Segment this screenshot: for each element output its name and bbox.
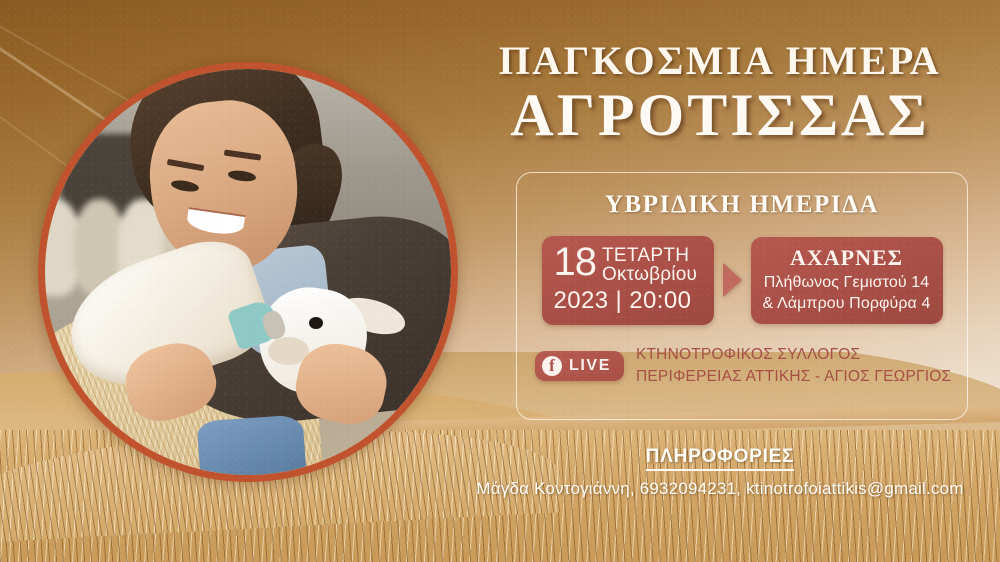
event-details-card: ΥΒΡΙΔΙΚΗ ΗΜΕΡΙΔΑ 18 ΤΕΤΑΡΤΗ Οκτωβρίου 20… <box>516 172 968 420</box>
day-number: 18 <box>554 244 597 281</box>
organizer-line-1: ΚΤΗΝΟΤΡΟΦΙΚΟΣ ΣΥΛΛΟΓΟΣ <box>636 344 951 366</box>
year-and-time: 2023 | 20:00 <box>554 287 704 315</box>
facebook-f-icon: f <box>542 356 562 376</box>
location-address-line-2: & Λάμπρου Πορφύρα 4 <box>759 293 935 314</box>
circular-photo-frame <box>38 62 458 482</box>
contact-details: Μάγδα Κοντογιάννη, 6932094231, ktinotrof… <box>440 479 1000 499</box>
information-section: ΠΛΗΡΟΦΟΡΙΕΣ Μάγδα Κοντογιάννη, 693209423… <box>440 446 1000 499</box>
lamb-eye <box>309 317 323 329</box>
weekday-label: ΤΕΤΑΡΤΗ <box>602 246 697 265</box>
month-label: Οκτωβρίου <box>602 265 697 286</box>
poster-headline: ΠΑΓΚΟΣΜΙΑ ΗΜΕΡΑ ΑΓΡΟΤΙΣΣΑΣ <box>460 40 980 147</box>
information-title: ΠΛΗΡΟΦΟΡΙΕΣ <box>646 446 795 471</box>
woman-jeans <box>197 415 307 475</box>
event-type-title: ΥΒΡΙΔΙΚΗ ΗΜΕΡΙΔΑ <box>517 191 967 219</box>
live-label: LIVE <box>569 357 611 375</box>
headline-line-2: ΑΓΡΟΤΙΣΣΑΣ <box>460 84 980 147</box>
location-city: ΑΧΑΡΝΕΣ <box>759 245 935 271</box>
facebook-live-badge[interactable]: f LIVE <box>535 351 624 381</box>
location-badge: ΑΧΑΡΝΕΣ Πλήθωνος Γεμιστού 14 & Λάμπρου Π… <box>751 237 943 324</box>
poster-root: ΠΑΓΚΟΣΜΙΑ ΗΜΕΡΑ ΑΓΡΟΤΙΣΣΑΣ ΥΒΡΙΔΙΚΗ ΗΜΕΡ… <box>0 0 1000 562</box>
date-location-row: 18 ΤΕΤΑΡΤΗ Οκτωβρίου 2023 | 20:00 ΑΧΑΡΝΕ… <box>517 236 967 325</box>
farmer-feeding-lamb-photo <box>45 69 451 475</box>
organizer-name: ΚΤΗΝΟΤΡΟΦΙΚΟΣ ΣΥΛΛΟΓΟΣ ΠΕΡΙΦΕΡΕΙΑΣ ΑΤΤΙΚ… <box>636 344 951 388</box>
arrow-right-icon <box>723 263 742 297</box>
organizer-line-2: ΠΕΡΙΦΕΡΕΙΑΣ ΑΤΤΙΚΗΣ - ΑΓΙΟΣ ΓΕΩΡΓΙΟΣ <box>636 366 951 388</box>
date-badge: 18 ΤΕΤΑΡΤΗ Οκτωβρίου 2023 | 20:00 <box>542 236 714 325</box>
facebook-live-row: f LIVE ΚΤΗΝΟΤΡΟΦΙΚΟΣ ΣΥΛΛΟΓΟΣ ΠΕΡΙΦΕΡΕΙΑ… <box>535 344 967 388</box>
date-top-row: 18 ΤΕΤΑΡΤΗ Οκτωβρίου <box>554 244 704 286</box>
location-address-line-1: Πλήθωνος Γεμιστού 14 <box>759 272 935 293</box>
weekday-month-column: ΤΕΤΑΡΤΗ Οκτωβρίου <box>602 244 697 286</box>
headline-line-1: ΠΑΓΚΟΣΜΙΑ ΗΜΕΡΑ <box>460 40 980 82</box>
